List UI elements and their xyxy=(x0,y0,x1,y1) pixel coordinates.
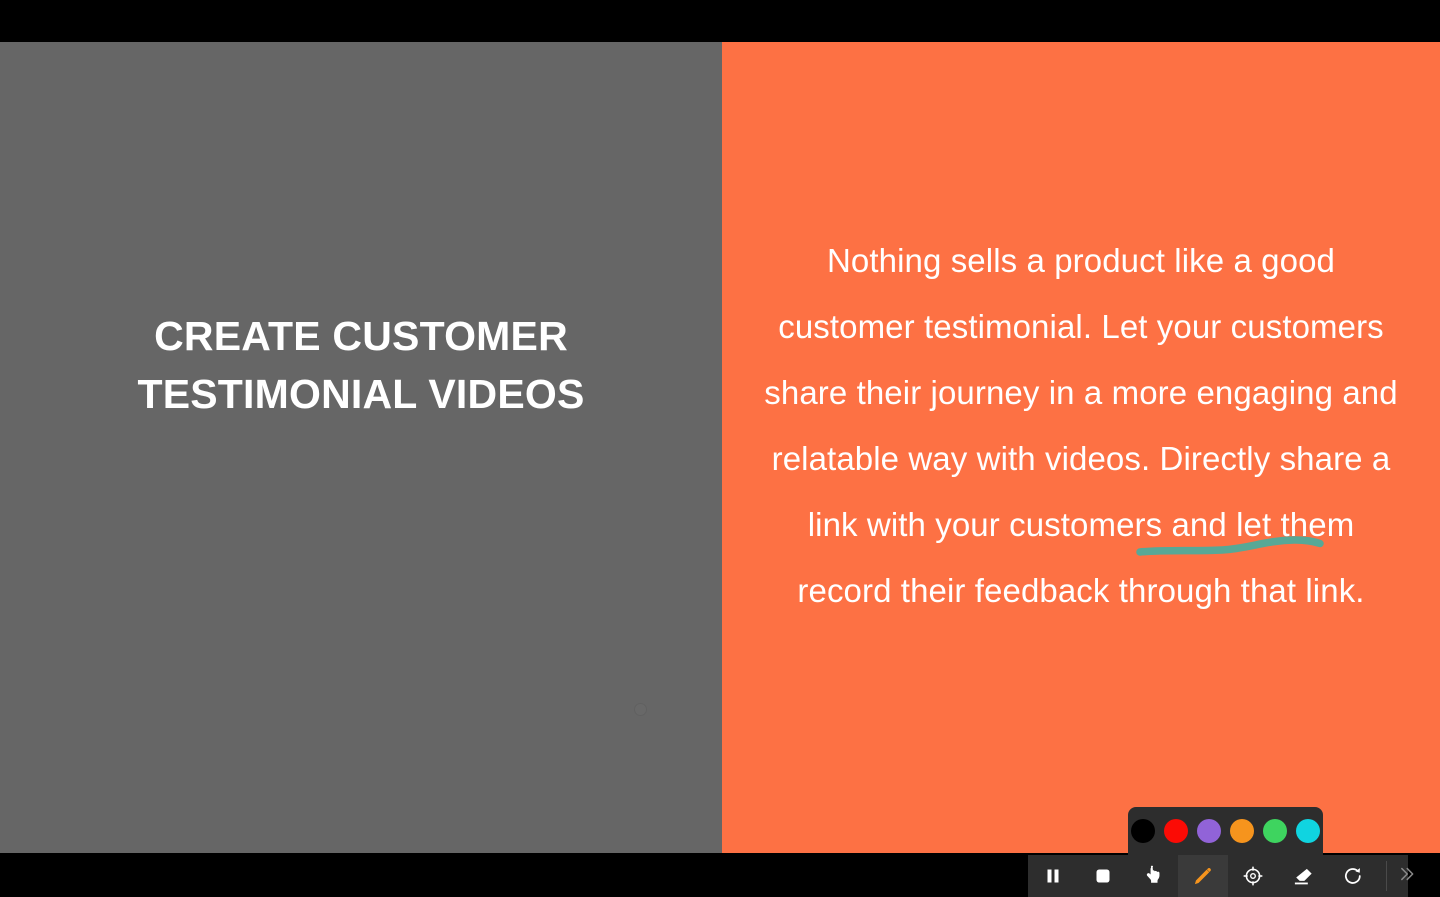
stop-button[interactable] xyxy=(1078,855,1128,897)
refresh-icon xyxy=(1342,865,1364,887)
color-swatch-red[interactable] xyxy=(1164,819,1188,843)
slide-body-text: Nothing sells a product like a good cust… xyxy=(763,228,1399,853)
reset-button[interactable] xyxy=(1328,855,1378,897)
hand-tap-icon xyxy=(1142,865,1164,887)
screen: CREATE CUSTOMER TESTIMONIAL VIDEOS Nothi… xyxy=(0,0,1440,897)
pointer-button[interactable] xyxy=(1128,855,1178,897)
presentation-toolbar xyxy=(1028,855,1408,897)
expand-toolbar-button[interactable] xyxy=(1387,855,1425,897)
color-swatch-purple[interactable] xyxy=(1197,819,1221,843)
pen-color-palette[interactable] xyxy=(1128,807,1323,855)
cursor-artifact-dot xyxy=(634,703,647,716)
color-swatch-black[interactable] xyxy=(1131,819,1155,843)
eraser-button[interactable] xyxy=(1278,855,1328,897)
color-swatch-cyan[interactable] xyxy=(1296,819,1320,843)
presentation-slide: CREATE CUSTOMER TESTIMONIAL VIDEOS Nothi… xyxy=(0,42,1440,853)
double-chevron-right-icon xyxy=(1396,864,1416,889)
slide-title-line-2: TESTIMONIAL VIDEOS xyxy=(81,365,641,423)
eraser-icon xyxy=(1292,865,1315,888)
spotlight-button[interactable] xyxy=(1228,855,1278,897)
color-swatch-green[interactable] xyxy=(1263,819,1287,843)
slide-left-panel: CREATE CUSTOMER TESTIMONIAL VIDEOS xyxy=(0,42,722,853)
color-swatch-orange[interactable] xyxy=(1230,819,1254,843)
target-icon xyxy=(1242,865,1264,887)
stop-icon xyxy=(1093,866,1113,886)
pencil-icon xyxy=(1192,865,1214,887)
pen-button[interactable] xyxy=(1178,855,1228,897)
pause-button[interactable] xyxy=(1028,855,1078,897)
pause-icon xyxy=(1043,866,1063,886)
slide-title: CREATE CUSTOMER TESTIMONIAL VIDEOS xyxy=(81,307,641,423)
slide-title-line-1: CREATE CUSTOMER xyxy=(81,307,641,365)
slide-right-panel: Nothing sells a product like a good cust… xyxy=(722,42,1440,853)
